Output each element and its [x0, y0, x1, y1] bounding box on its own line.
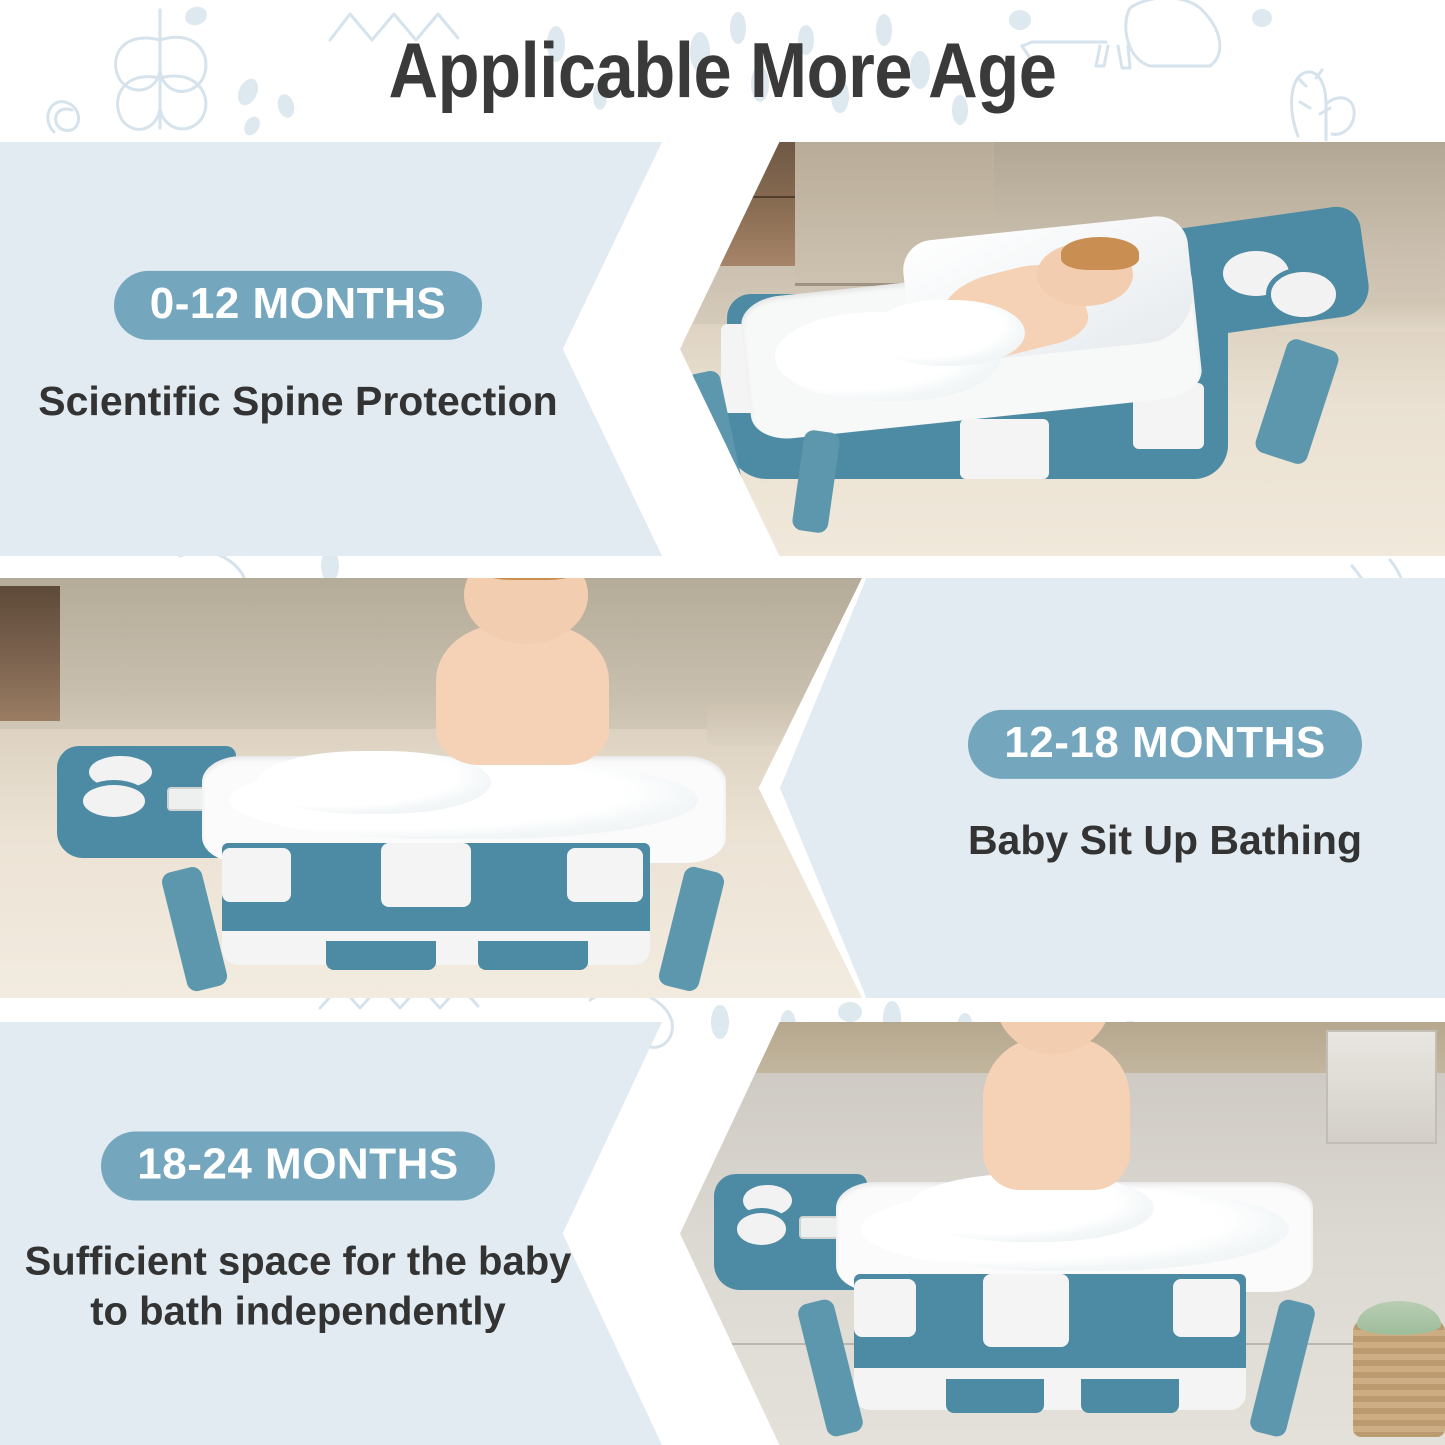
- baby-torso: [983, 1038, 1130, 1190]
- product-photo-12-18-months: [0, 578, 862, 998]
- tub-base-foot: [326, 941, 436, 970]
- wood-panel: [0, 586, 60, 720]
- page-title: Applicable More Age: [388, 31, 1056, 109]
- crab-eye-right: [1266, 267, 1342, 322]
- tub-base-foot-2: [478, 941, 588, 970]
- crab-eye-bottom: [78, 780, 150, 822]
- age-badge: 12-18 MONTHS: [968, 710, 1361, 779]
- text-block: 0-12 MONTHS Scientific Spine Protection: [18, 271, 578, 427]
- feature-description: Sufficient space for the baby to bath in…: [18, 1236, 578, 1336]
- tub-white-band-mid: [960, 419, 1050, 479]
- crab-eye-bottom: [732, 1208, 791, 1249]
- text-panel: 0-12 MONTHS Scientific Spine Protection: [0, 142, 662, 556]
- tub-white-band-right: [567, 848, 643, 902]
- age-section-18-24-months: 18-24 MONTHS Sufficient space for the ba…: [0, 1022, 1445, 1445]
- photo-scene: [680, 1022, 1445, 1445]
- text-panel: 18-24 MONTHS Sufficient space for the ba…: [0, 1022, 662, 1445]
- tub-white-band-left: [854, 1279, 915, 1337]
- tub-base-foot: [946, 1379, 1044, 1413]
- bath-bubbles-2: [870, 300, 1025, 366]
- text-panel: 12-18 MONTHS Baby Sit Up Bathing: [780, 578, 1445, 998]
- tub-white-band-left: [222, 848, 291, 902]
- feature-description: Scientific Spine Protection: [38, 376, 558, 427]
- tub-white-band-mid: [983, 1274, 1069, 1347]
- baby-torso: [436, 624, 608, 765]
- tub-leg-left: [160, 865, 230, 993]
- tub-leg-right: [1249, 1298, 1318, 1439]
- age-badge: 18-24 MONTHS: [101, 1131, 494, 1200]
- baby-hair: [1061, 237, 1139, 270]
- bath-bubbles-2: [257, 751, 491, 814]
- tub-base-foot-2: [1081, 1379, 1179, 1413]
- woven-basket: [1353, 1318, 1445, 1436]
- age-section-0-12-months: 0-12 MONTHS Scientific Spine Protection: [0, 142, 1445, 556]
- tub-white-band-mid: [381, 843, 471, 906]
- product-photo-0-12-months: [680, 142, 1445, 556]
- product-photo-18-24-months: [680, 1022, 1445, 1445]
- tub-leg-right: [657, 865, 727, 993]
- tub-white-band-right: [1173, 1279, 1240, 1337]
- cabinet: [1326, 1030, 1437, 1144]
- bath-tub: [703, 217, 1300, 515]
- text-block: 12-18 MONTHS Baby Sit Up Bathing: [885, 710, 1445, 866]
- photo-scene: [0, 578, 862, 998]
- bath-tub: [78, 746, 768, 990]
- bath-tub: [726, 1174, 1338, 1436]
- infographic-page: Applicable More Age 0-12 MONTHS Scientif…: [0, 0, 1445, 1445]
- photo-scene: [680, 142, 1445, 556]
- age-section-12-18-months: 12-18 MONTHS Baby Sit Up Bathing: [0, 578, 1445, 998]
- feature-description: Baby Sit Up Bathing: [905, 815, 1425, 866]
- wood-seam: [695, 196, 794, 198]
- tub-base-band: [854, 1368, 1246, 1410]
- age-badge: 0-12 MONTHS: [114, 271, 482, 340]
- page-header: Applicable More Age: [0, 0, 1445, 140]
- text-block: 18-24 MONTHS Sufficient space for the ba…: [18, 1131, 578, 1336]
